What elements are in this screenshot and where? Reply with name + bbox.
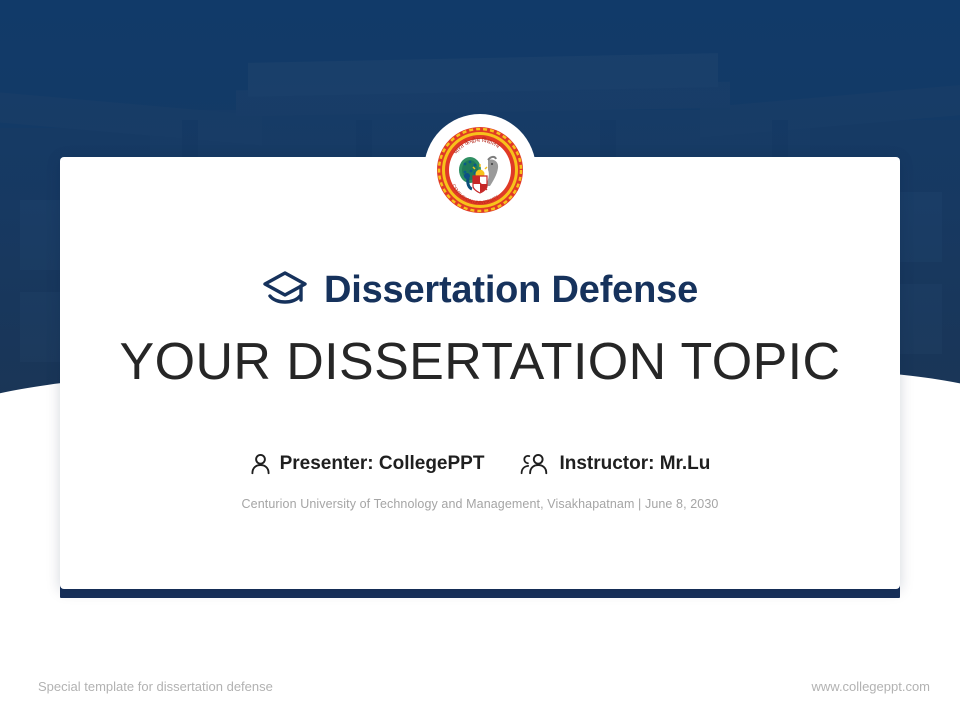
presentation-slide: Dissertation Defense YOUR DISSERTATION T… [0,0,960,720]
university-seal: भारत केन्द्रीय विद्यालय [436,126,524,214]
person-icon [250,453,271,475]
instructor-label: Instructor: Mr.Lu [559,453,710,475]
graduation-cap-icon [262,270,308,310]
eyebrow-title: Dissertation Defense [324,271,698,309]
instructor-credit: Instructor: Mr.Lu [520,453,710,475]
credits-row: Presenter: CollegePPT Instructor: Mr.Lu [60,453,900,475]
page-title: YOUR DISSERTATION TOPIC [60,334,900,390]
footer-website-link[interactable]: www.collegeppt.com [812,679,931,694]
venue-and-date: Centurion University of Technology and M… [60,497,900,511]
eyebrow-row: Dissertation Defense [60,270,900,310]
university-seal-badge: भारत केन्द्रीय विद्यालय [424,114,536,226]
presenter-label: Presenter: CollegePPT [280,453,485,475]
people-group-icon [520,453,550,475]
presenter-credit: Presenter: CollegePPT [250,453,485,475]
footer-left-text: Special template for dissertation defens… [38,679,273,694]
